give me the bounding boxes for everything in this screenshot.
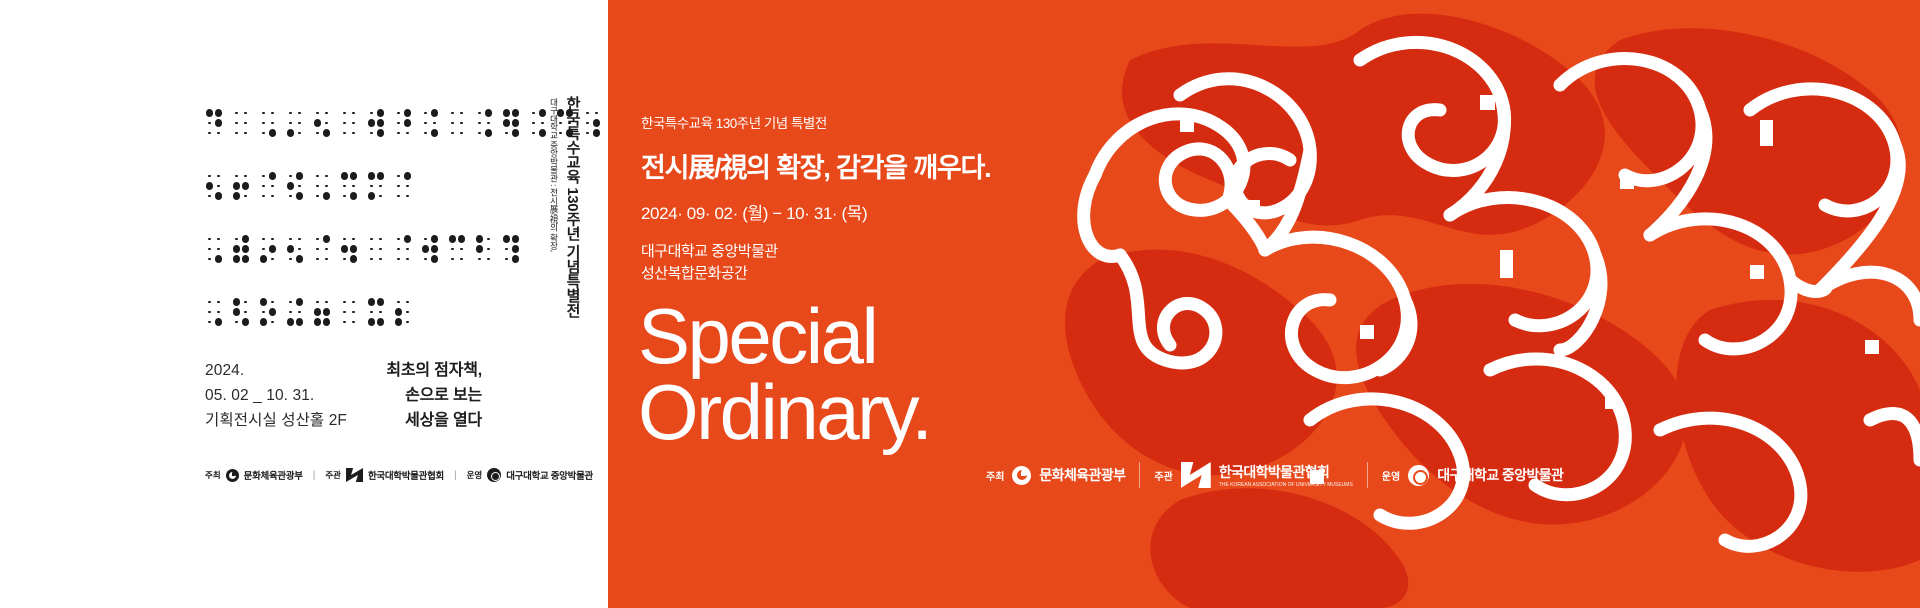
braille-dot [259,254,268,264]
braille-dot [313,297,322,307]
braille-dot [259,307,268,317]
braille-dot [295,191,304,201]
braille-dot [502,244,511,254]
braille-dot [394,297,403,307]
braille-dot [340,307,349,317]
braille-dot [340,191,349,201]
credit-group: 주관한국대학박물관협회THE KOREAN ASSOCIATION OF UNI… [1154,462,1352,488]
daegu-museum-logo-icon [487,468,501,482]
braille-dot [322,307,331,317]
credit-org-subtitle: THE KOREAN ASSOCIATION OF UNIVERSITY MUS… [1219,482,1353,488]
braille-dot [313,108,322,118]
braille-dot [268,317,277,327]
braille-dot [457,234,466,244]
braille-cell [394,297,412,327]
braille-dot [241,317,250,327]
braille-dot [313,181,322,191]
braille-dot [349,181,358,191]
credit-role-label: 주관 [325,469,341,481]
braille-dot [511,118,520,128]
braille-dot [313,307,322,317]
venue-line-1: 대구대학교 중앙박물관 [641,241,990,263]
braille-cell [421,234,439,264]
credit-group: 주관한국대학박물관협회 [325,468,444,482]
braille-dot [394,244,403,254]
braille-dot [502,108,511,118]
braille-cell [259,171,277,201]
braille-dot [268,128,277,138]
braille-dot [241,307,250,317]
braille-dot [205,128,214,138]
braille-dot [538,128,547,138]
braille-dot [403,118,412,128]
exhibition-title: 전시展/視의 확장, 감각을 깨우다. [641,146,990,185]
braille-dot [232,128,241,138]
braille-dot [484,244,493,254]
braille-cell [448,108,466,138]
left-slogan-line-2: 손으로 보는 [386,383,482,408]
braille-dot [448,234,457,244]
braille-dot [286,118,295,128]
braille-dot [232,317,241,327]
braille-dot [529,128,538,138]
braille-dot [349,317,358,327]
braille-dot [322,191,331,201]
credits-divider [1139,462,1140,488]
braille-dot [205,254,214,264]
braille-dot [502,234,511,244]
credit-org-name: 한국대학박물관협회 [368,468,444,482]
braille-dot [259,317,268,327]
braille-dot [340,181,349,191]
braille-dot [268,297,277,307]
big-type-line-2: Ordinary. [638,374,930,450]
braille-dot [511,128,520,138]
braille-dot [322,181,331,191]
braille-dot [403,297,412,307]
braille-dot [367,297,376,307]
braille-dot [322,254,331,264]
braille-cell [367,297,385,327]
braille-cell [286,234,304,264]
braille-dot [241,244,250,254]
braille-cell [259,108,277,138]
braille-cell [259,297,277,327]
braille-dot [295,128,304,138]
braille-dot [295,234,304,244]
braille-dot [421,128,430,138]
braille-dot [286,234,295,244]
braille-dot [205,234,214,244]
braille-dot [214,254,223,264]
braille-dot [232,297,241,307]
braille-dot [511,234,520,244]
braille-dot [448,244,457,254]
daegu-museum-logo-icon [1408,465,1429,486]
braille-dot [232,307,241,317]
braille-dot [295,181,304,191]
braille-dot [457,128,466,138]
braille-dot [259,234,268,244]
braille-dot [376,234,385,244]
braille-dot [529,108,538,118]
braille-dot [475,128,484,138]
braille-dot [403,181,412,191]
braille-dot [295,108,304,118]
braille-dot [286,307,295,317]
credits-divider [1367,462,1368,488]
spine-main-text: 한국특수교육 130주년 기념특별전 [562,96,583,317]
braille-dot [376,108,385,118]
braille-cell [421,108,439,138]
braille-dot [286,191,295,201]
left-venue: 기획전시실 성산홀 2F [205,408,347,433]
braille-dot [403,171,412,181]
braille-dot [475,118,484,128]
right-credits-row: 주최문화체육관광부주관한국대학박물관협회THE KOREAN ASSOCIATI… [986,462,1563,488]
mcst-logo-icon [226,469,239,482]
braille-dot [340,317,349,327]
braille-dot [403,191,412,201]
braille-dot [376,191,385,201]
braille-dot [313,191,322,201]
braille-cell [529,108,547,138]
braille-dot [475,108,484,118]
braille-dot [286,244,295,254]
braille-dot [376,244,385,254]
braille-cell [340,234,358,264]
braille-dot [322,244,331,254]
credit-org-name: 대구대학교 중앙박물관 [1437,465,1563,485]
braille-dot [232,108,241,118]
braille-cell [286,171,304,201]
braille-dot [502,128,511,138]
braille-dot [286,254,295,264]
braille-dot [448,254,457,264]
braille-dot [241,118,250,128]
exhibition-poster: 2024. 05. 02 _ 10. 31. 기획전시실 성산홀 2F 최초의 … [0,0,1920,608]
braille-dot [295,118,304,128]
braille-dot [430,108,439,118]
braille-dot [394,171,403,181]
braille-dot [511,244,520,254]
braille-cell [205,108,223,138]
braille-dot [430,118,439,128]
credit-role-label: 주최 [205,469,221,481]
braille-dot [484,118,493,128]
braille-dot [349,191,358,201]
braille-dot [403,234,412,244]
braille-dot [205,108,214,118]
braille-dot [295,171,304,181]
braille-dot [448,118,457,128]
braille-cell [259,234,277,264]
braille-dot [583,128,592,138]
braille-dot [313,118,322,128]
braille-dot [205,307,214,317]
braille-dot [286,181,295,191]
braille-dot [430,128,439,138]
credit-group: 주최문화체육관광부 [205,468,303,482]
braille-dot [367,108,376,118]
braille-dot [349,118,358,128]
braille-dot [286,171,295,181]
braille-dot [349,108,358,118]
braille-dot [241,128,250,138]
braille-dot [259,171,268,181]
braille-dot [268,307,277,317]
braille-dot [340,234,349,244]
braille-dot [484,108,493,118]
braille-dot [268,108,277,118]
braille-cell [232,171,250,201]
braille-dot [376,118,385,128]
braille-dot [340,254,349,264]
braille-dot [241,234,250,244]
braille-dot [295,244,304,254]
braille-line [205,297,505,327]
braille-dot [367,191,376,201]
braille-dot [259,297,268,307]
braille-dot [367,171,376,181]
braille-dot [376,307,385,317]
braille-dot [394,181,403,191]
braille-dot [394,128,403,138]
braille-cell [340,171,358,201]
braille-dot [394,317,403,327]
braille-cell [367,108,385,138]
braille-dot [205,171,214,181]
braille-cell [502,108,520,138]
braille-dot [259,128,268,138]
braille-cell [367,171,385,201]
braille-dot [268,244,277,254]
braille-dot [214,108,223,118]
braille-dot [268,181,277,191]
braille-dot [376,181,385,191]
braille-dot [376,171,385,181]
braille-dot [583,118,592,128]
credit-org-name: 한국대학박물관협회THE KOREAN ASSOCIATION OF UNIVE… [1219,462,1353,488]
credit-role-label: 주최 [986,468,1004,483]
braille-dot [268,171,277,181]
braille-dot [367,118,376,128]
braille-dot [403,254,412,264]
exhibition-venue: 대구대학교 중앙박물관 성산복합문화공간 [641,241,990,285]
braille-dot [241,108,250,118]
braille-dot [205,191,214,201]
braille-dot [340,244,349,254]
braille-cell [394,171,412,201]
braille-dot [214,317,223,327]
credit-group: 주최문화체육관광부 [986,465,1125,485]
credit-org-name: 대구대학교 중앙박물관 [506,468,593,482]
braille-dot [322,108,331,118]
credit-role-label: 주관 [1154,468,1172,483]
braille-dot [313,171,322,181]
braille-cell [313,297,331,327]
braille-dot [511,108,520,118]
braille-dot [475,254,484,264]
braille-dot [421,118,430,128]
braille-dot [205,317,214,327]
braille-cell [583,108,601,138]
braille-dot [268,118,277,128]
credit-org-name: 문화체육관광부 [1039,465,1125,485]
braille-dot [241,171,250,181]
left-slogan-line-1: 최초의 점자책, [386,358,482,383]
braille-dot [430,234,439,244]
braille-dot [511,254,520,264]
braille-cell [340,297,358,327]
braille-dot [205,181,214,191]
braille-dot [322,297,331,307]
braille-dot [232,181,241,191]
braille-dot [349,297,358,307]
braille-dot [367,307,376,317]
braille-dot [430,254,439,264]
left-credits-row: 주최문화체육관광부|주관한국대학박물관협회|운영대구대학교 중앙박물관 [205,468,593,482]
braille-dot [295,297,304,307]
braille-cell [502,234,520,264]
braille-dot [484,234,493,244]
braille-dot [214,234,223,244]
braille-dot [259,181,268,191]
braille-dot [376,297,385,307]
braille-dot [232,254,241,264]
left-slogan-block: 최초의 점자책, 손으로 보는 세상을 열다 [386,358,482,433]
credit-group: 운영대구대학교 중앙박물관 [467,468,593,482]
braille-dot [322,234,331,244]
braille-dot [448,128,457,138]
spine-vertical-text: 한국특수교육 130주년 기념특별전 대구대학교 중앙박물관 : 전시展/視의 … [548,96,583,396]
braille-dot [457,118,466,128]
braille-line [205,171,505,201]
braille-dot [241,254,250,264]
headline-block: 한국특수교육 130주년 기념 특별전 전시展/視의 확장, 감각을 깨우다. … [641,112,990,285]
braille-dot [403,108,412,118]
braille-text-block [205,108,505,360]
braille-cell [313,171,331,201]
braille-dot [394,191,403,201]
braille-dot [322,128,331,138]
braille-dot [259,108,268,118]
braille-dot [214,128,223,138]
braille-dot [403,317,412,327]
braille-dot [313,244,322,254]
braille-line [205,234,505,264]
braille-dot [349,244,358,254]
braille-dot [340,171,349,181]
braille-dot [394,118,403,128]
braille-dot [367,244,376,254]
braille-dot [475,234,484,244]
braille-dot [205,244,214,254]
braille-dot [214,307,223,317]
credits-divider: | [313,470,316,481]
braille-dot [421,108,430,118]
braille-dot [394,234,403,244]
braille-cell [232,108,250,138]
braille-dot [268,234,277,244]
braille-cell [475,234,493,264]
braille-line [205,108,505,138]
braille-dot [241,191,250,201]
braille-dot [214,297,223,307]
braille-dot [367,254,376,264]
braille-cell [475,108,493,138]
braille-dot [286,128,295,138]
braille-dot [340,297,349,307]
braille-dot [295,254,304,264]
mcst-logo-icon [1012,466,1031,485]
braille-dot [232,244,241,254]
credit-role-label: 운영 [467,469,483,481]
credit-group: 운영대구대학교 중앙박물관 [1382,465,1564,486]
braille-dot [205,118,214,128]
braille-dot [295,317,304,327]
braille-dot [349,171,358,181]
braille-dot [430,244,439,254]
braille-dot [367,181,376,191]
braille-dot [313,254,322,264]
braille-dot [421,234,430,244]
braille-cell [448,234,466,264]
left-white-panel: 2024. 05. 02 _ 10. 31. 기획전시실 성산홀 2F 최초의 … [0,0,608,608]
braille-dot [259,118,268,128]
braille-dot [340,128,349,138]
braille-dot [268,191,277,201]
braille-dot [349,128,358,138]
braille-dot [403,307,412,317]
braille-dot [592,118,601,128]
braille-dot [232,234,241,244]
braille-dot [367,234,376,244]
braille-cell [232,234,250,264]
squiggle-artwork [1060,0,1920,608]
braille-cell [394,108,412,138]
braille-dot [241,297,250,307]
braille-cell [232,297,250,327]
braille-dot [538,108,547,118]
braille-dot [313,128,322,138]
exhibition-run-dates: 2024· 09· 02· (월) − 10· 31· (목) [641,199,990,224]
big-type-block: Special Ordinary. [638,298,930,451]
braille-dot [313,317,322,327]
credit-org-name: 문화체육관광부 [244,468,303,482]
big-type-line-1: Special [638,298,930,374]
braille-cell [340,108,358,138]
braille-cell [313,108,331,138]
braille-dot [394,307,403,317]
braille-dot [403,244,412,254]
braille-dot [475,244,484,254]
credit-role-label: 운영 [1382,468,1400,483]
braille-dot [367,128,376,138]
braille-dot [232,171,241,181]
braille-dot [376,317,385,327]
braille-dot [394,254,403,264]
braille-dot [403,128,412,138]
credits-divider: | [454,470,457,481]
braille-dot [394,108,403,118]
braille-dot [457,244,466,254]
braille-dot [259,244,268,254]
left-date-venue-block: 2024. 05. 02 _ 10. 31. 기획전시실 성산홀 2F [205,358,347,433]
braille-dot [205,297,214,307]
braille-cell [205,234,223,264]
braille-dot [448,108,457,118]
